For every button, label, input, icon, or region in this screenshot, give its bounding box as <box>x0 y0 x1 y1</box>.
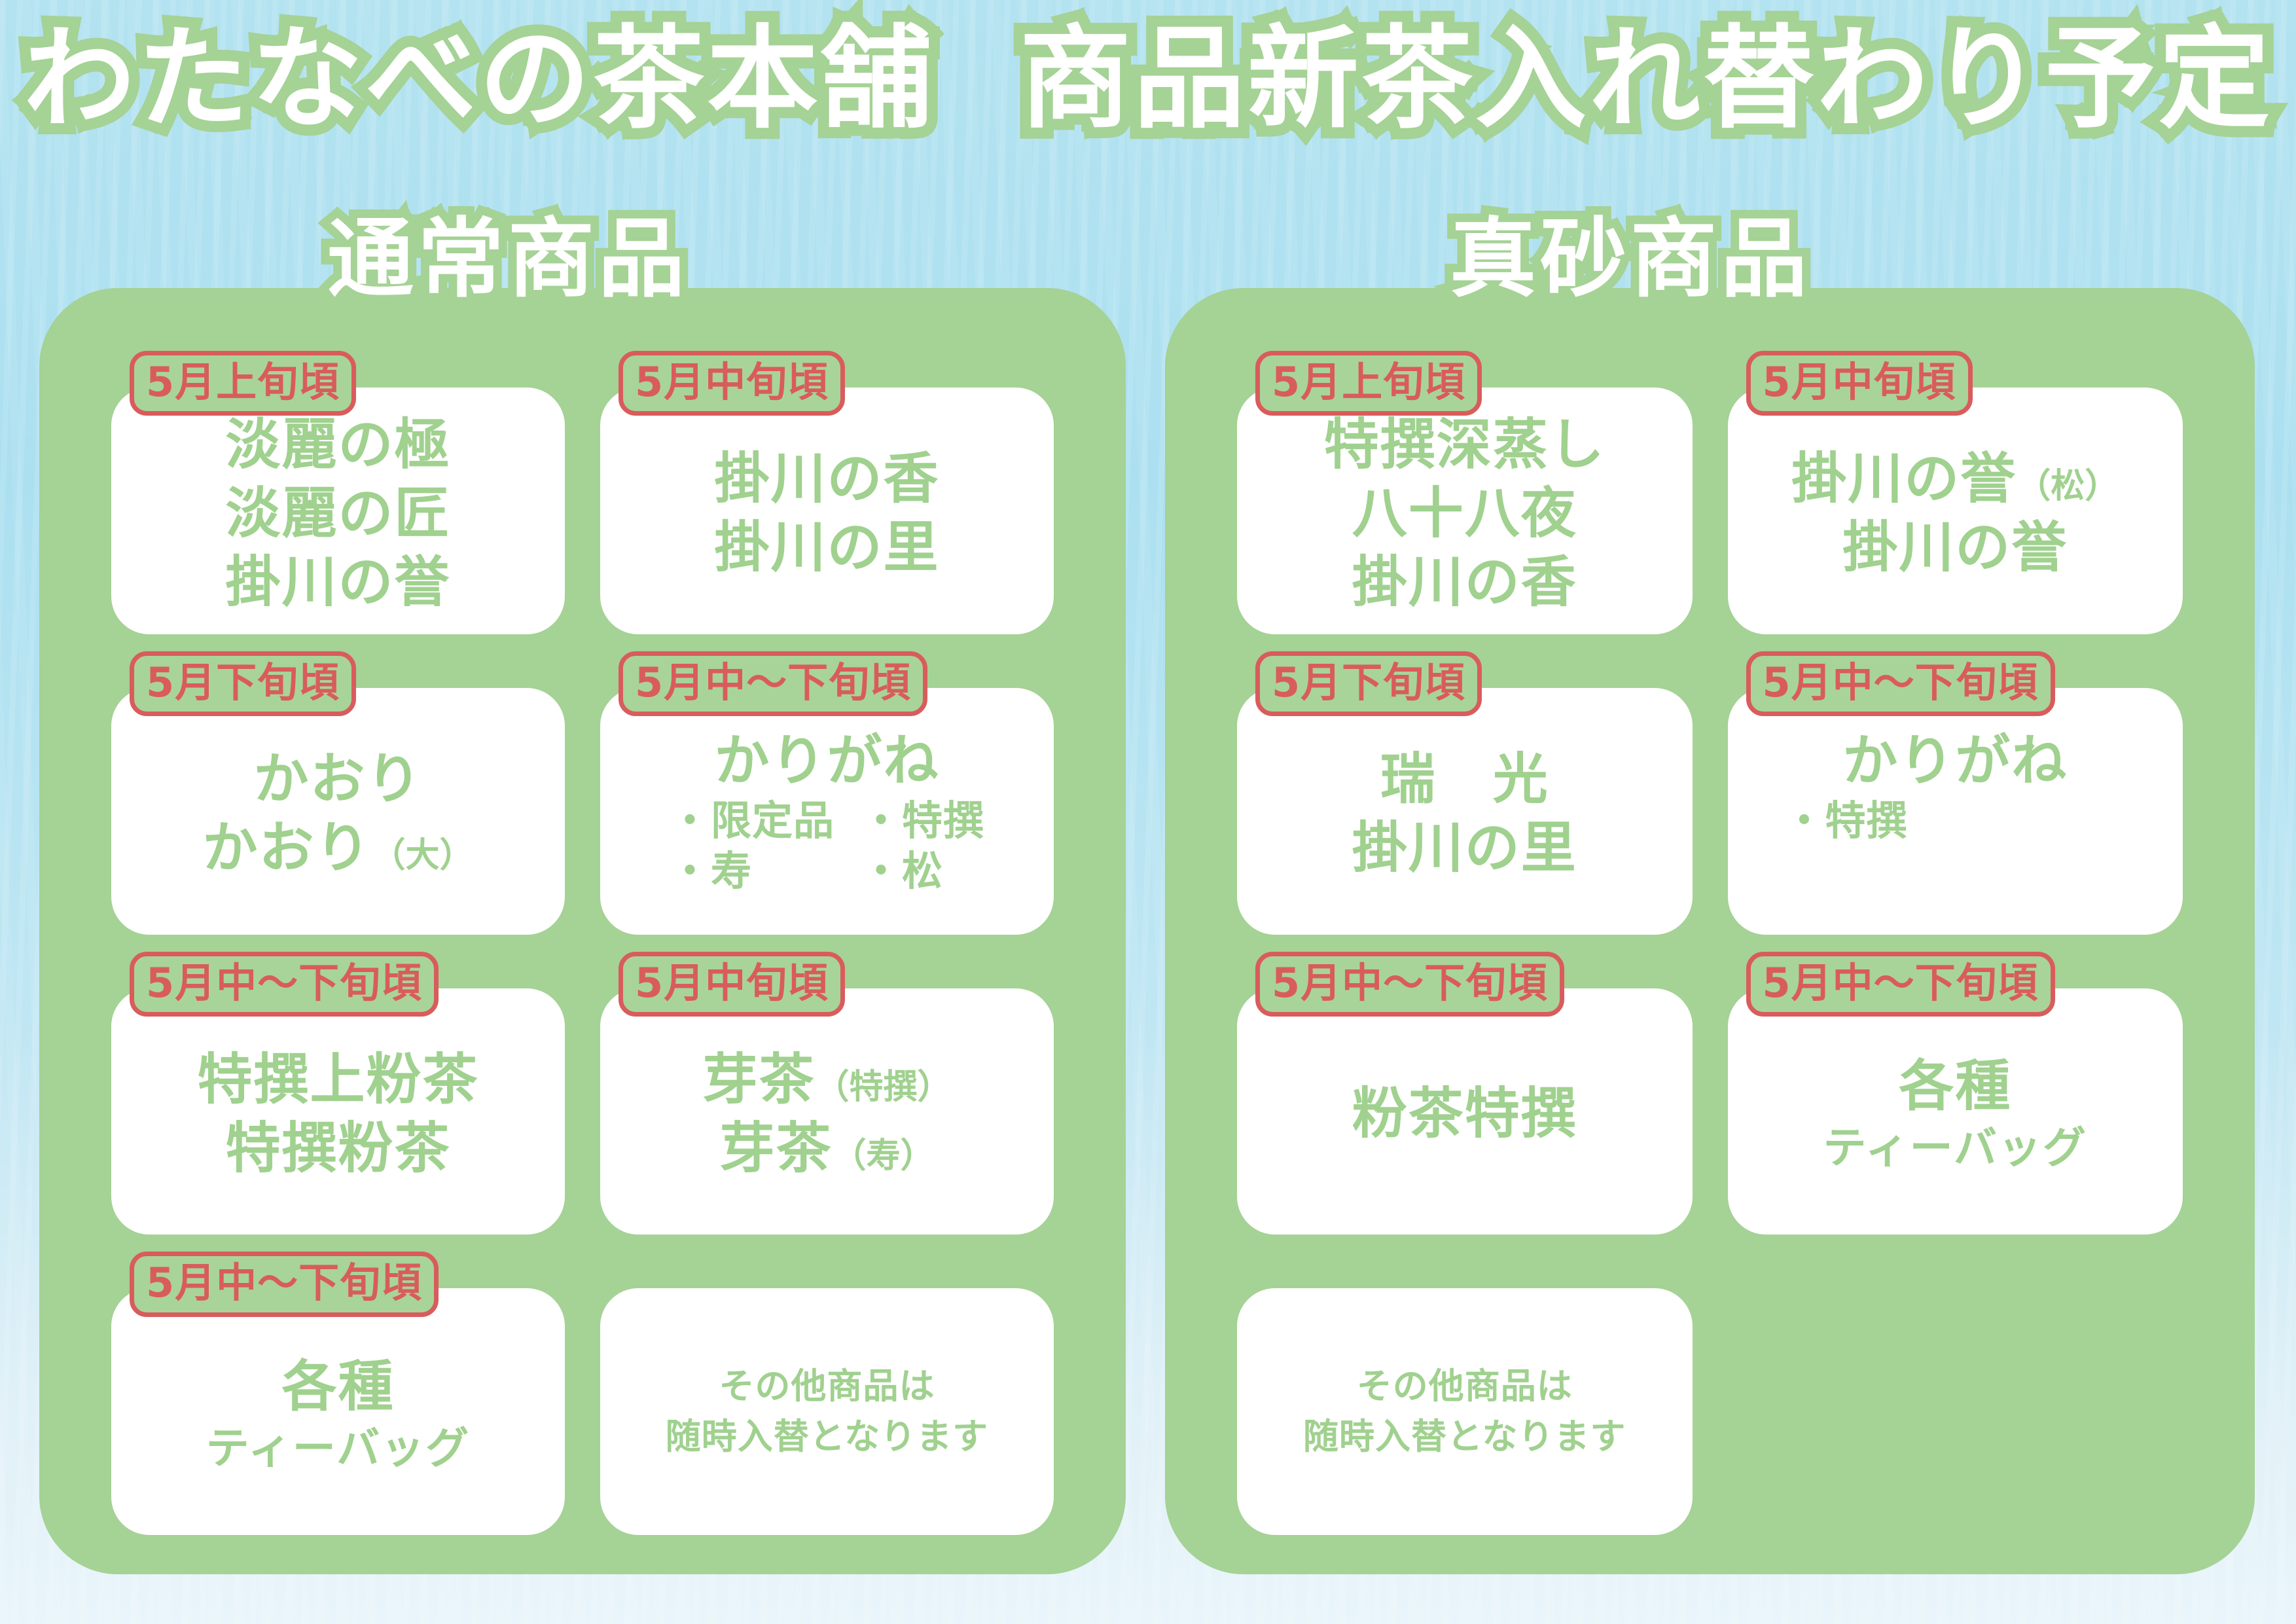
product-list: 瑞 光掛川の里 <box>1259 747 1670 880</box>
variant-item: ・寿 <box>670 846 834 896</box>
product-list: かおりかおり（大） <box>134 747 543 880</box>
card-cell: その他商品は随時入替となります <box>600 1252 1054 1535</box>
product-name: 掛川の里 <box>622 515 1031 580</box>
product-card: かりがね・限定品・特撰・寿・松 <box>600 688 1054 935</box>
product-card: 掛川の誉（松）掛川の誉 <box>1728 388 2183 634</box>
product-card: 芽茶（特撰）芽茶（寿） <box>600 988 1054 1235</box>
note-card: その他商品は随時入替となります <box>600 1288 1054 1535</box>
product-name: 八十八夜 <box>1259 481 1670 546</box>
item-qualifier: （松） <box>2017 467 2119 506</box>
product-name: かおり <box>134 747 543 812</box>
item-main: 粉茶特撰 <box>1352 1081 1577 1146</box>
product-list: かりがね <box>1750 729 2161 793</box>
item-main: 掛川の誉 <box>1842 515 2068 579</box>
product-name: ティーバッグ <box>134 1423 543 1474</box>
item-main: 芽茶 <box>702 1047 815 1111</box>
panel-masago-products: 5月上旬頃特撰深蒸し八十八夜掛川の香5月中旬頃掛川の誉（松）掛川の誉5月下旬頃瑞… <box>1165 288 2255 1574</box>
product-name: 特撰上粉茶 <box>134 1047 543 1112</box>
panel-regular-products: 5月上旬頃淡麗の極淡麗の匠掛川の誉5月中旬頃掛川の香掛川の里5月下旬頃かおりかお… <box>39 288 1126 1574</box>
product-name: 掛川の里 <box>1259 816 1670 880</box>
card-grid-regular: 5月上旬頃淡麗の極淡麗の匠掛川の誉5月中旬頃掛川の香掛川の里5月下旬頃かおりかお… <box>39 288 1126 1574</box>
variant-item: ・限定品 <box>670 796 834 846</box>
item-qualifier: （大） <box>372 836 474 875</box>
product-card: 掛川の香掛川の里 <box>600 388 1054 634</box>
timing-badge: 5月下旬頃 <box>1255 651 1482 716</box>
timing-badge: 5月中〜下旬頃 <box>1746 952 2055 1017</box>
timing-badge: 5月上旬頃 <box>1255 351 1482 416</box>
product-card: 粉茶特撰 <box>1237 988 1693 1235</box>
card-cell: 5月中旬頃芽茶（特撰）芽茶（寿） <box>600 952 1054 1235</box>
product-name: 掛川の誉（松） <box>1750 446 2161 511</box>
timing-badge: 5月中〜下旬頃 <box>1255 952 1564 1017</box>
item-main: 掛川の誉 <box>225 550 450 614</box>
timing-badge: 5月中旬頃 <box>1746 351 1973 416</box>
product-name: 掛川の誉 <box>1750 515 2161 580</box>
product-name: ティーバッグ <box>1750 1123 2161 1174</box>
product-name: かおり（大） <box>134 816 543 880</box>
item-main: 掛川の香 <box>714 446 939 511</box>
section-heading-masago: 真砂商品 <box>1450 216 1811 302</box>
timing-badge: 5月中〜下旬頃 <box>130 952 439 1017</box>
product-name: 各種 <box>134 1354 543 1419</box>
variant-item: ・特撰 <box>1784 796 1908 846</box>
note-line: 随時入替となります <box>1303 1412 1626 1462</box>
product-name: 特撰深蒸し <box>1259 412 1670 477</box>
product-list: 特撰上粉茶特撰粉茶 <box>134 1047 543 1181</box>
item-main: 芽茶 <box>719 1116 832 1180</box>
poster-title: わたなべの茶本舗 商品新茶入れ替わり予定 <box>0 16 2296 144</box>
product-name: 特撰粉茶 <box>134 1116 543 1181</box>
card-cell: 5月中〜下旬頃各種ティーバッグ <box>111 1252 565 1535</box>
product-list: かりがね <box>622 729 1031 793</box>
product-name: かりがね <box>622 729 1031 793</box>
timing-badge: 5月上旬頃 <box>130 351 356 416</box>
card-cell: 5月中〜下旬頃各種ティーバッグ <box>1728 952 2183 1235</box>
section-heading-regular: 通常商品 <box>327 216 689 302</box>
product-list: 粉茶特撰 <box>1259 1081 1670 1146</box>
product-list: 淡麗の極淡麗の匠掛川の誉 <box>134 412 543 615</box>
product-name: 掛川の香 <box>1259 550 1670 615</box>
product-name: 芽茶（寿） <box>622 1116 1031 1181</box>
card-cell: 5月下旬頃かおりかおり（大） <box>111 651 565 935</box>
item-main: 淡麗の極 <box>225 412 450 477</box>
card-cell: その他商品は随時入替となります <box>1237 1252 1693 1535</box>
item-main: 掛川の里 <box>714 515 939 579</box>
item-main: かおり <box>202 816 371 880</box>
item-main: かおり <box>253 747 422 811</box>
product-card: 特撰上粉茶特撰粉茶 <box>111 988 565 1235</box>
item-main: 各種 <box>281 1354 394 1418</box>
item-main: 瑞 光 <box>1380 747 1549 811</box>
product-card: 瑞 光掛川の里 <box>1237 688 1693 935</box>
note-line: 随時入替となります <box>666 1412 988 1462</box>
timing-badge: 5月中〜下旬頃 <box>130 1252 439 1316</box>
timing-badge: 5月中旬頃 <box>619 351 845 416</box>
timing-badge: 5月中〜下旬頃 <box>1746 651 2055 716</box>
item-main: 特撰上粉茶 <box>197 1047 478 1111</box>
product-card: 特撰深蒸し八十八夜掛川の香 <box>1237 388 1693 634</box>
title-shop-name: わたなべの茶本舗 <box>24 16 935 144</box>
item-main: ティーバッグ <box>1823 1123 2087 1173</box>
item-main: 掛川の誉 <box>1791 446 2017 511</box>
card-cell: 5月中旬頃掛川の香掛川の里 <box>600 351 1054 634</box>
card-cell: 5月中〜下旬頃かりがね・限定品・特撰・寿・松 <box>600 651 1054 935</box>
product-card: かりがね・特撰 <box>1728 688 2183 935</box>
product-name: 掛川の香 <box>622 446 1031 511</box>
product-name: かりがね <box>1750 729 2161 793</box>
item-main: 特撰粉茶 <box>225 1116 450 1180</box>
item-main: かりがね <box>1842 729 2068 793</box>
card-cell: 5月上旬頃特撰深蒸し八十八夜掛川の香 <box>1237 351 1693 634</box>
product-name: 瑞 光 <box>1259 747 1670 812</box>
item-main: 掛川の里 <box>1352 816 1577 880</box>
note-card: その他商品は随時入替となります <box>1237 1288 1693 1535</box>
variant-list: ・特撰 <box>1750 796 2161 846</box>
product-name: 各種 <box>1750 1054 2161 1119</box>
note-line: その他商品は <box>1357 1362 1573 1412</box>
item-qualifier: （特撰） <box>816 1068 952 1107</box>
timing-badge: 5月下旬頃 <box>130 651 356 716</box>
product-card: 淡麗の極淡麗の匠掛川の誉 <box>111 388 565 634</box>
product-name: 粉茶特撰 <box>1259 1081 1670 1146</box>
item-main: 八十八夜 <box>1352 481 1577 545</box>
product-card: かおりかおり（大） <box>111 688 565 935</box>
product-list: 掛川の香掛川の里 <box>622 446 1031 580</box>
item-main: 各種 <box>1899 1054 2011 1118</box>
card-cell: 5月中旬頃掛川の誉（松）掛川の誉 <box>1728 351 2183 634</box>
product-list: 各種ティーバッグ <box>1750 1054 2161 1174</box>
product-name: 芽茶（特撰） <box>622 1047 1031 1112</box>
timing-badge: 5月中〜下旬頃 <box>619 651 927 716</box>
product-list: 掛川の誉（松）掛川の誉 <box>1750 446 2161 580</box>
item-main: ティーバッグ <box>206 1423 470 1473</box>
item-qualifier: （寿） <box>833 1136 935 1176</box>
card-cell <box>1728 1252 2183 1535</box>
product-list: 特撰深蒸し八十八夜掛川の香 <box>1259 412 1670 615</box>
product-list: 芽茶（特撰）芽茶（寿） <box>622 1047 1031 1181</box>
product-name: 淡麗の極 <box>134 412 543 477</box>
product-card: 各種ティーバッグ <box>1728 988 2183 1235</box>
variant-list: ・限定品・特撰・寿・松 <box>622 796 1031 896</box>
card-cell: 5月中〜下旬頃粉茶特撰 <box>1237 952 1693 1235</box>
card-cell: 5月中〜下旬頃かりがね・特撰 <box>1728 651 2183 935</box>
variant-item: ・特撰 <box>861 796 984 846</box>
timing-badge: 5月中旬頃 <box>619 952 845 1017</box>
title-subject: 商品新茶入れ替わり予定 <box>1020 16 2272 144</box>
item-main: 特撰深蒸し <box>1324 412 1605 477</box>
card-grid-masago: 5月上旬頃特撰深蒸し八十八夜掛川の香5月中旬頃掛川の誉（松）掛川の誉5月下旬頃瑞… <box>1165 288 2255 1574</box>
card-cell: 5月下旬頃瑞 光掛川の里 <box>1237 651 1693 935</box>
product-name: 淡麗の匠 <box>134 481 543 546</box>
product-list: 各種ティーバッグ <box>134 1354 543 1474</box>
item-main: かりがね <box>714 729 939 793</box>
item-main: 掛川の香 <box>1352 550 1577 614</box>
card-cell: 5月中〜下旬頃特撰上粉茶特撰粉茶 <box>111 952 565 1235</box>
product-card: 各種ティーバッグ <box>111 1288 565 1535</box>
product-name: 掛川の誉 <box>134 550 543 615</box>
variant-item: ・松 <box>861 846 984 896</box>
note-line: その他商品は <box>719 1362 935 1412</box>
item-main: 淡麗の匠 <box>225 481 450 545</box>
card-cell: 5月上旬頃淡麗の極淡麗の匠掛川の誉 <box>111 351 565 634</box>
